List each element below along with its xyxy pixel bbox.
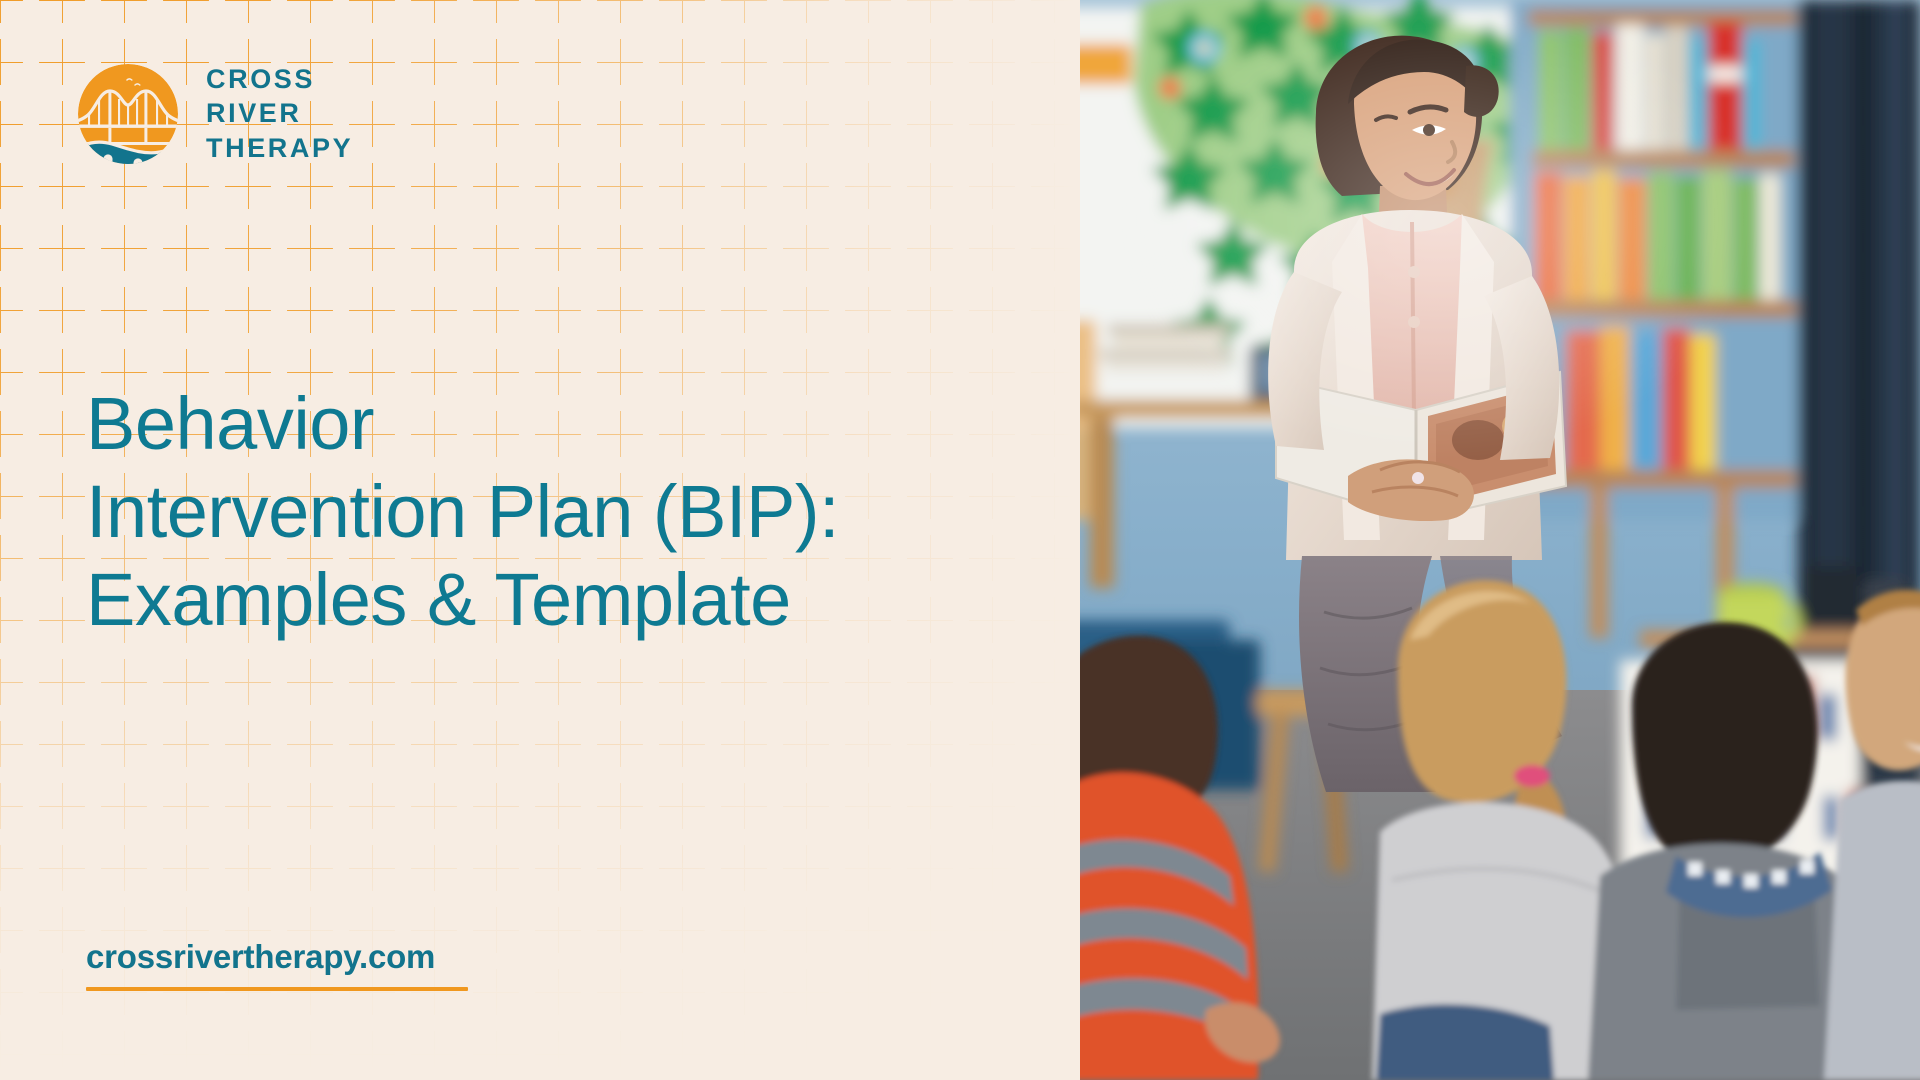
brand-logo[interactable]: CROSS RIVER THERAPY xyxy=(72,58,353,170)
marketing-banner: CROSS RIVER THERAPY Behavior Interventio… xyxy=(0,0,1920,1080)
left-content-panel: CROSS RIVER THERAPY Behavior Interventio… xyxy=(0,0,1080,1080)
classroom-photo xyxy=(1080,0,1920,1080)
title-line-3: Examples & Template xyxy=(86,556,1026,644)
brand-word-line-3: THERAPY xyxy=(206,132,353,165)
brand-word-line-1: CROSS xyxy=(206,63,353,96)
website-url[interactable]: crossrivertherapy.com xyxy=(86,940,468,991)
website-url-underline xyxy=(86,987,468,991)
title-line-1: Behavior xyxy=(86,380,1026,468)
website-url-text: crossrivertherapy.com xyxy=(86,940,468,973)
brand-word-line-2: RIVER xyxy=(206,97,353,130)
page-title: Behavior Intervention Plan (BIP): Exampl… xyxy=(86,380,1026,644)
brand-wordmark: CROSS RIVER THERAPY xyxy=(206,63,353,165)
title-line-2: Intervention Plan (BIP): xyxy=(86,468,1026,556)
bridge-sun-puzzle-icon xyxy=(72,58,184,170)
